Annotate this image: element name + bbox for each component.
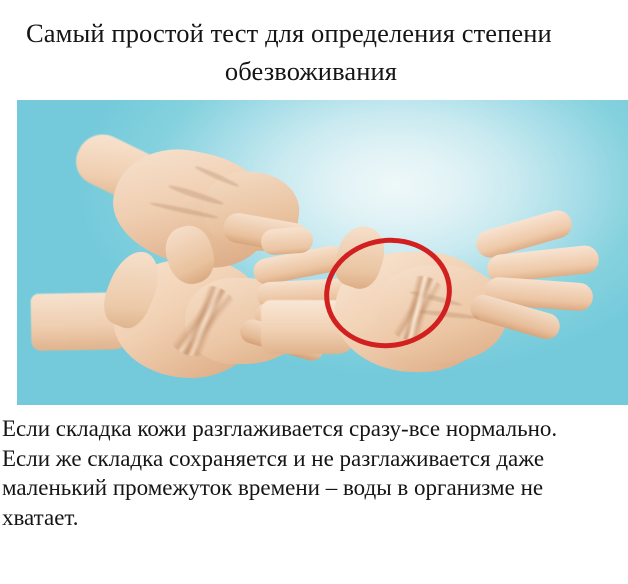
body-text: Если складка кожи разглаживается сразу-в…: [2, 414, 628, 532]
dehydration-test-photo: [17, 100, 628, 405]
body-line-3: маленький промежуток времени – воды в ор…: [2, 473, 628, 503]
page-title: Самый простой тест для определения степе…: [0, 14, 628, 90]
title-line-2: обезвоживания: [0, 52, 628, 90]
slide: Самый простой тест для определения степе…: [0, 0, 628, 584]
body-line-4: хватает.: [2, 503, 628, 533]
body-line-2: Если же складка сохраняется и не разглаж…: [2, 444, 628, 474]
body-line-1: Если складка кожи разглаживается сразу-в…: [2, 414, 628, 444]
left-upper-fingertip: [260, 226, 314, 256]
left-skin-fold: [167, 286, 237, 356]
photo-content: [17, 100, 628, 405]
title-line-1: Самый простой тест для определения степе…: [26, 14, 628, 52]
